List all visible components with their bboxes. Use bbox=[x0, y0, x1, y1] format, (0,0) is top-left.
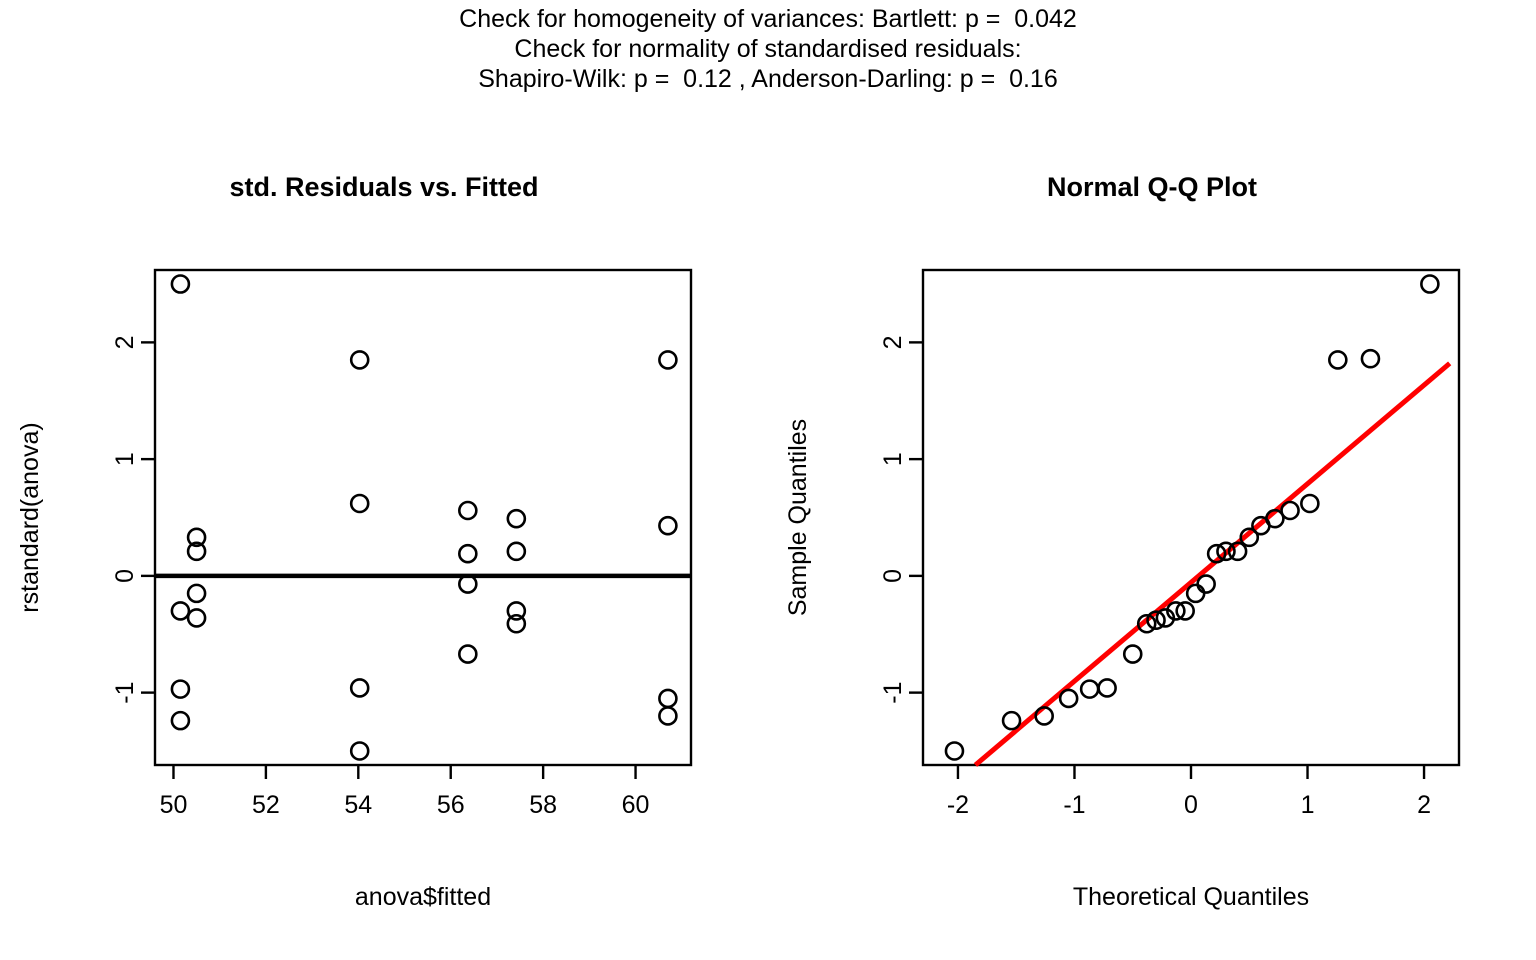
residuals-data-point bbox=[508, 615, 525, 632]
qq-x-tick-label: -2 bbox=[947, 791, 969, 819]
qq-data-point bbox=[1301, 495, 1318, 512]
residuals-plot-canvas: 505254565860-1012anova$fittedrstandard(a… bbox=[0, 0, 768, 960]
residuals-data-point bbox=[351, 742, 368, 759]
residuals-data-point bbox=[508, 510, 525, 527]
qq-data-point bbox=[1282, 502, 1299, 519]
residuals-data-point bbox=[659, 517, 676, 534]
normal-qq-panel: Normal Q-Q Plot -2-1012-1012Theoretical … bbox=[768, 0, 1536, 960]
residuals-vs-fitted-panel: std. Residuals vs. Fitted 505254565860-1… bbox=[0, 0, 768, 960]
qq-y-tick-label: 0 bbox=[879, 569, 907, 583]
qq-data-point bbox=[1060, 690, 1077, 707]
residuals-data-point bbox=[188, 585, 205, 602]
residuals-x-axis-title: anova$fitted bbox=[355, 883, 491, 911]
residuals-data-point bbox=[459, 502, 476, 519]
qq-data-point bbox=[1421, 276, 1438, 293]
residuals-y-tick-label: 2 bbox=[111, 335, 139, 349]
qq-data-point bbox=[1187, 585, 1204, 602]
qq-x-tick-label: 1 bbox=[1301, 791, 1315, 819]
residuals-y-tick-label: 1 bbox=[111, 452, 139, 466]
residuals-data-point bbox=[659, 351, 676, 368]
residuals-x-tick-label: 52 bbox=[252, 791, 280, 819]
qq-data-point bbox=[1362, 350, 1379, 367]
residuals-data-point bbox=[508, 543, 525, 560]
residuals-data-point bbox=[188, 609, 205, 626]
residuals-x-tick-label: 58 bbox=[529, 791, 557, 819]
residuals-data-point bbox=[459, 545, 476, 562]
qq-x-axis-title: Theoretical Quantiles bbox=[1073, 883, 1309, 911]
residuals-x-tick-label: 60 bbox=[622, 791, 650, 819]
qq-data-point bbox=[1124, 646, 1141, 663]
residuals-data-point bbox=[351, 495, 368, 512]
qq-plot-canvas: -2-1012-1012Theoretical QuantilesSample … bbox=[768, 0, 1536, 960]
qq-y-tick-label: 1 bbox=[879, 452, 907, 466]
residuals-x-tick-label: 54 bbox=[344, 791, 372, 819]
residuals-data-point bbox=[172, 712, 189, 729]
residuals-plot-frame bbox=[155, 270, 691, 765]
residuals-data-point bbox=[172, 602, 189, 619]
residuals-x-tick-label: 56 bbox=[437, 791, 465, 819]
residuals-data-point bbox=[172, 681, 189, 698]
qq-data-point bbox=[1099, 679, 1116, 696]
qq-y-tick-label: -1 bbox=[879, 682, 907, 704]
residuals-y-tick-label: 0 bbox=[111, 569, 139, 583]
residuals-data-point bbox=[659, 690, 676, 707]
residuals-data-point bbox=[459, 646, 476, 663]
qq-data-point bbox=[1198, 576, 1215, 593]
residuals-data-point bbox=[351, 351, 368, 368]
residuals-y-axis-title: rstandard(anova) bbox=[16, 422, 44, 612]
qq-plot-frame bbox=[923, 270, 1459, 765]
qq-data-point bbox=[1003, 712, 1020, 729]
r-diagnostic-plot-page: Check for homogeneity of variances: Bart… bbox=[0, 0, 1536, 960]
residuals-y-tick-label: -1 bbox=[111, 682, 139, 704]
qq-x-tick-label: 2 bbox=[1417, 791, 1431, 819]
qq-x-tick-label: -1 bbox=[1063, 791, 1085, 819]
qq-x-tick-label: 0 bbox=[1184, 791, 1198, 819]
qq-data-point bbox=[946, 742, 963, 759]
qq-y-axis-title: Sample Quantiles bbox=[784, 419, 812, 616]
qq-data-point bbox=[1081, 681, 1098, 698]
qq-data-point bbox=[1329, 351, 1346, 368]
residuals-data-point bbox=[659, 707, 676, 724]
residuals-x-tick-label: 50 bbox=[160, 791, 188, 819]
residuals-data-point bbox=[172, 276, 189, 293]
qq-qq-reference-line bbox=[975, 363, 1449, 765]
residuals-data-point bbox=[351, 679, 368, 696]
qq-y-tick-label: 2 bbox=[879, 335, 907, 349]
